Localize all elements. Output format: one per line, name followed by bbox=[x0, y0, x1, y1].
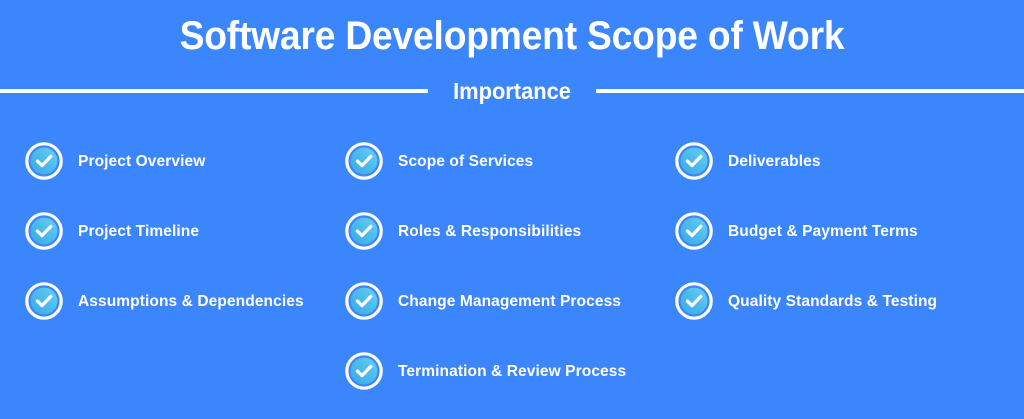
list-item[interactable]: Project Overview bbox=[0, 126, 335, 196]
check-circle-icon bbox=[675, 212, 713, 250]
subtitle: Importance bbox=[432, 78, 592, 104]
check-circle-icon bbox=[345, 212, 383, 250]
list-item-label: Assumptions & Dependencies bbox=[78, 292, 304, 311]
check-circle-icon bbox=[25, 142, 63, 180]
item-row: Project Timeline Roles & Responsibilitie… bbox=[0, 196, 1024, 266]
divider-line-right bbox=[596, 89, 1024, 93]
list-item[interactable]: Change Management Process bbox=[335, 266, 665, 336]
list-item[interactable]: Project Timeline bbox=[0, 196, 335, 266]
item-row: Project Overview Scope of Services Deliv… bbox=[0, 126, 1024, 196]
items-grid: Project Overview Scope of Services Deliv… bbox=[0, 126, 1024, 406]
list-item-label: Budget & Payment Terms bbox=[728, 222, 918, 241]
list-item[interactable]: Scope of Services bbox=[335, 126, 665, 196]
item-row: Assumptions & Dependencies Change Manage… bbox=[0, 266, 1024, 336]
item-row: Termination & Review Process bbox=[0, 336, 1024, 406]
check-circle-icon bbox=[25, 212, 63, 250]
list-item-label: Deliverables bbox=[728, 152, 821, 171]
list-item-label: Scope of Services bbox=[398, 152, 533, 171]
check-circle-icon bbox=[345, 352, 383, 390]
list-item[interactable]: Quality Standards & Testing bbox=[665, 266, 1024, 336]
list-item[interactable]: Termination & Review Process bbox=[335, 336, 665, 406]
list-item[interactable]: Roles & Responsibilities bbox=[335, 196, 665, 266]
divider-line-left bbox=[0, 89, 428, 93]
check-circle-icon bbox=[345, 142, 383, 180]
check-circle-icon bbox=[675, 142, 713, 180]
header: Software Development Scope of Work Impor… bbox=[0, 0, 1024, 106]
list-item-label: Change Management Process bbox=[398, 292, 621, 311]
check-circle-icon bbox=[25, 282, 63, 320]
list-item[interactable]: Deliverables bbox=[665, 126, 1024, 196]
check-circle-icon bbox=[675, 282, 713, 320]
list-item[interactable]: Assumptions & Dependencies bbox=[0, 266, 335, 336]
check-circle-icon bbox=[345, 282, 383, 320]
list-item-label: Termination & Review Process bbox=[398, 362, 626, 381]
list-item-label: Project Overview bbox=[78, 152, 205, 171]
list-item-label: Roles & Responsibilities bbox=[398, 222, 581, 241]
list-item-label: Project Timeline bbox=[78, 222, 199, 241]
infographic-root: Software Development Scope of Work Impor… bbox=[0, 0, 1024, 419]
page-title: Software Development Scope of Work bbox=[36, 12, 988, 60]
list-item-label: Quality Standards & Testing bbox=[728, 292, 937, 311]
subtitle-divider: Importance bbox=[0, 76, 1024, 106]
list-item[interactable]: Budget & Payment Terms bbox=[665, 196, 1024, 266]
